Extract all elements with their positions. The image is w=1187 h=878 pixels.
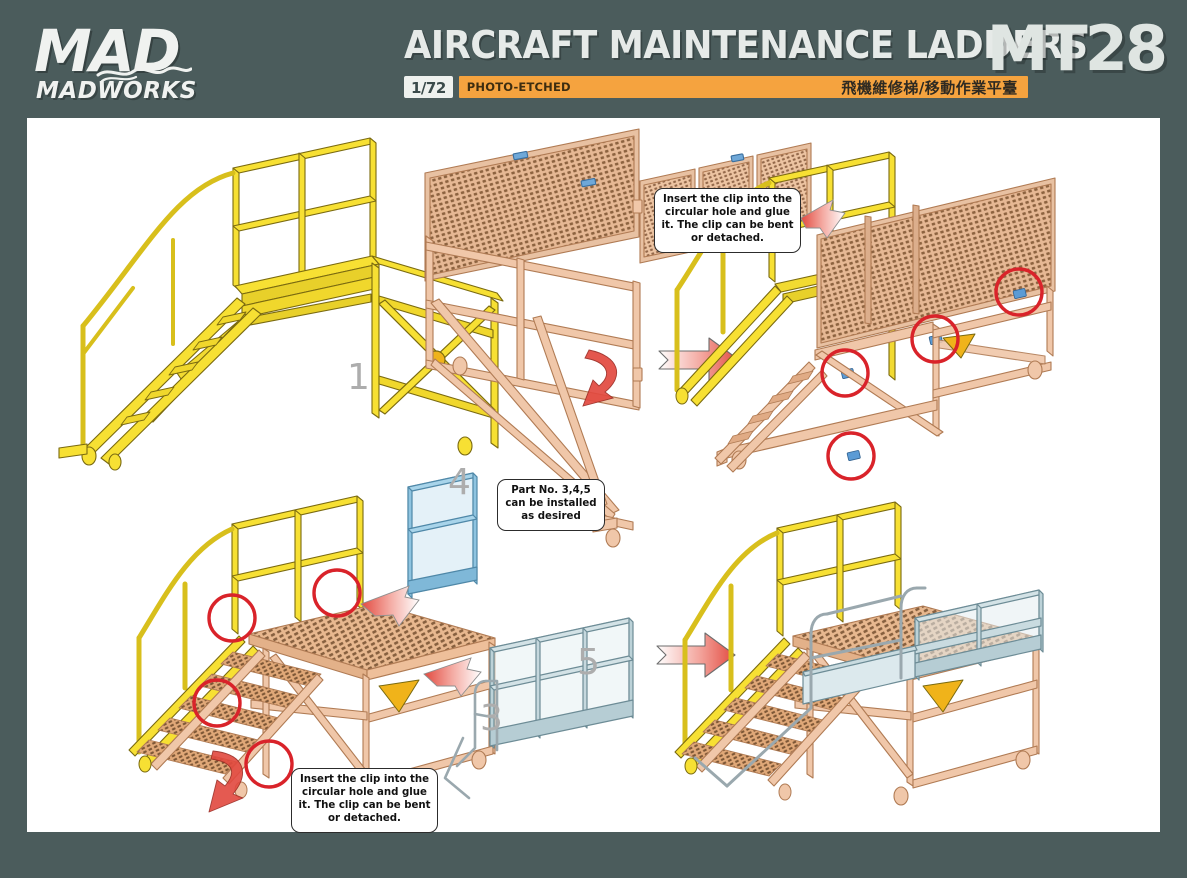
callout-clip-step2: Insert the clip into the circular hole a… [291, 768, 438, 833]
part-label-1: 1 [347, 360, 370, 396]
sheet-header: MAD MADWORKS AIRCRAFT MAINTENANCE LADDER… [0, 0, 1187, 113]
title-chinese: 飛機維修梯/移動作業平臺 [841, 77, 1019, 98]
brand-logo-mad: MAD [34, 22, 179, 80]
instruction-sheet: MAD MADWORKS AIRCRAFT MAINTENANCE LADDER… [0, 0, 1187, 878]
content-panel: Insert the clip into the circular hole a… [27, 118, 1160, 832]
material-label: PHOTO-ETCHED [467, 80, 571, 94]
assembly-diagrams [27, 118, 1160, 832]
step2-result [675, 502, 1043, 805]
part-label-5: 5 [577, 645, 600, 681]
part-label-4: 4 [448, 465, 471, 501]
bend-arrow-step1 [583, 350, 617, 406]
brand-logo: MAD MADWORKS [30, 22, 220, 102]
callout-clip-step1: Insert the clip into the circular hole a… [654, 188, 801, 253]
header-badge-row: 1/72 PHOTO-ETCHED 飛機維修梯/移動作業平臺 [404, 76, 1028, 98]
sheet-title: AIRCRAFT MAINTENANCE LADDERS [404, 26, 1087, 64]
material-bar: PHOTO-ETCHED 飛機維修梯/移動作業平臺 [459, 76, 1028, 98]
callout-optional-parts: Part No. 3,4,5 can be installed as desir… [497, 479, 605, 531]
transition-arrow-2 [657, 633, 735, 677]
part-5-rail [490, 618, 633, 748]
product-code: MT28 [987, 18, 1165, 80]
scale-badge: 1/72 [404, 76, 453, 98]
brand-logo-madworks: MADWORKS [36, 80, 197, 103]
part-label-3: 3 [480, 701, 503, 737]
